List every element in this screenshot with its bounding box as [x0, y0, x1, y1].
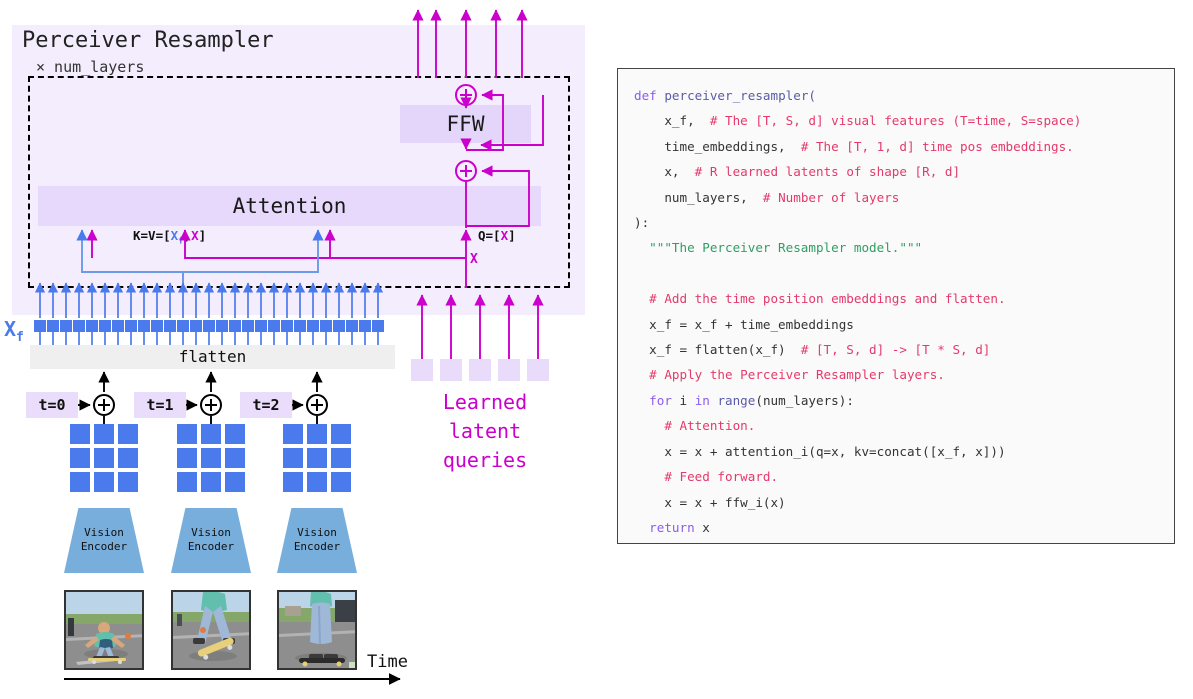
code-token: for — [649, 393, 679, 408]
q-label: Q=[X] — [478, 228, 516, 243]
kv-comma: , — [184, 228, 192, 243]
time-step-label-0: t=0 — [26, 392, 78, 418]
code-token — [634, 393, 649, 408]
vision-encoder-label-2a: Vision — [277, 526, 357, 540]
code-token — [634, 520, 649, 535]
code-token: x_f, — [634, 113, 710, 128]
flatten-label: flatten — [30, 345, 395, 369]
code-token: # The [T, S, d] visual features (T=time,… — [710, 113, 1082, 128]
latent-label-line-1: latent — [405, 417, 565, 446]
code-token: """The Perceiver Resampler model.""" — [634, 240, 922, 255]
code-token: in — [695, 393, 718, 408]
code-token: num_layers, — [634, 190, 763, 205]
code-token: # Add the time position embeddings and f… — [649, 291, 1005, 306]
vision-encoder-1: VisionEncoder — [171, 508, 251, 573]
time-add-icon-2 — [306, 394, 328, 416]
kv-suffix: ] — [199, 228, 207, 243]
q-suffix: ] — [508, 228, 516, 243]
code-token: # R learned latents of shape [R, d] — [695, 164, 960, 179]
ffw-label: FFW — [400, 105, 531, 143]
time-step-box-1: t=1 — [134, 392, 186, 418]
vision-encoder-label-2b: Encoder — [277, 540, 357, 554]
code-token: i — [680, 393, 695, 408]
code-token: x, — [634, 164, 695, 179]
xf-label-subscript: f — [16, 330, 24, 345]
vision-encoder-label-0b: Encoder — [64, 540, 144, 554]
code-token: # Attention. — [664, 418, 755, 433]
flatten-block: flatten — [30, 345, 395, 369]
latent-query-0 — [411, 359, 433, 381]
time-step-box-2: t=2 — [240, 392, 292, 418]
ffw-block: FFW — [400, 105, 531, 143]
code-token: # [T, S, d] -> [T * S, d] — [801, 342, 991, 357]
time-add-icon-1 — [200, 394, 222, 416]
code-token: # Apply the Perceiver Resampler layers. — [649, 367, 945, 382]
code-token: x — [702, 520, 710, 535]
perceiver-resampler-diagram: Perceiver Resampler × num_layers FFW Att… — [0, 0, 600, 699]
code-block: def perceiver_resampler( x_f, # The [T, … — [617, 68, 1175, 544]
patch-grid-frame-1 — [177, 424, 245, 492]
code-token: # The [T, 1, d] time pos embeddings. — [801, 139, 1074, 154]
time-step-box-0: t=0 — [26, 392, 78, 418]
code-token: x = x + ffw_i(x) — [634, 495, 786, 510]
code-token — [634, 367, 649, 382]
vision-encoder-2: VisionEncoder — [277, 508, 357, 573]
latent-query-2 — [469, 359, 491, 381]
code-token — [634, 469, 664, 484]
video-frame-2 — [277, 590, 357, 670]
time-axis-label: Time — [367, 652, 408, 672]
xf-label-text: X — [4, 317, 16, 341]
learned-latent-queries-label: Learned latent queries — [405, 388, 565, 475]
code-token: # Feed forward. — [664, 469, 778, 484]
code-token: def — [634, 88, 664, 103]
kv-label: K=V=[Xf,X] — [133, 228, 206, 247]
latent-query-4 — [527, 359, 549, 381]
vision-encoder-label-1a: Vision — [171, 526, 251, 540]
code-token: # Number of layers — [763, 190, 899, 205]
xf-label: Xf — [4, 317, 24, 345]
code-token: range — [717, 393, 755, 408]
time-add-icon-0 — [93, 394, 115, 416]
patch-grid-frame-0 — [70, 424, 138, 492]
vision-encoder-label-1b: Encoder — [171, 540, 251, 554]
residual-add-ffw-icon — [455, 84, 477, 106]
q-x: X — [501, 228, 509, 243]
code-token: ): — [634, 215, 649, 230]
code-token: (num_layers): — [755, 393, 854, 408]
code-token — [634, 291, 649, 306]
vision-encoder-0: VisionEncoder — [64, 508, 144, 573]
latent-label-line-2: queries — [405, 446, 565, 475]
time-step-label-1: t=1 — [134, 392, 186, 418]
residual-add-attention-icon — [455, 160, 477, 182]
code-token: x_f = x_f + time_embeddings — [634, 317, 854, 332]
code-token: x_f = flatten(x_f) — [634, 342, 801, 357]
q-prefix: Q=[ — [478, 228, 501, 243]
code-token: perceiver_resampler( — [664, 88, 816, 103]
attention-label: Attention — [38, 186, 541, 226]
x-residual-label: X — [470, 252, 478, 267]
latent-label-line-0: Learned — [405, 388, 565, 417]
kv-x: X — [191, 228, 199, 243]
time-step-label-2: t=2 — [240, 392, 292, 418]
kv-prefix: K=V=[ — [133, 228, 171, 243]
code-token: return — [649, 520, 702, 535]
latent-query-3 — [498, 359, 520, 381]
latent-query-1 — [440, 359, 462, 381]
video-frame-1 — [171, 590, 251, 670]
code-token — [634, 418, 664, 433]
page-title: Perceiver Resampler — [22, 28, 274, 53]
code-token: time_embeddings, — [634, 139, 801, 154]
patch-grid-frame-2 — [283, 424, 351, 492]
video-frame-0 — [64, 590, 144, 670]
num-layers-label: × num_layers — [36, 58, 144, 76]
code-token: x = x + attention_i(q=x, kv=concat([x_f,… — [634, 444, 1006, 459]
code-content: def perceiver_resampler( x_f, # The [T, … — [634, 83, 1158, 540]
vision-encoder-label-0a: Vision — [64, 526, 144, 540]
attention-block: Attention — [38, 186, 541, 226]
